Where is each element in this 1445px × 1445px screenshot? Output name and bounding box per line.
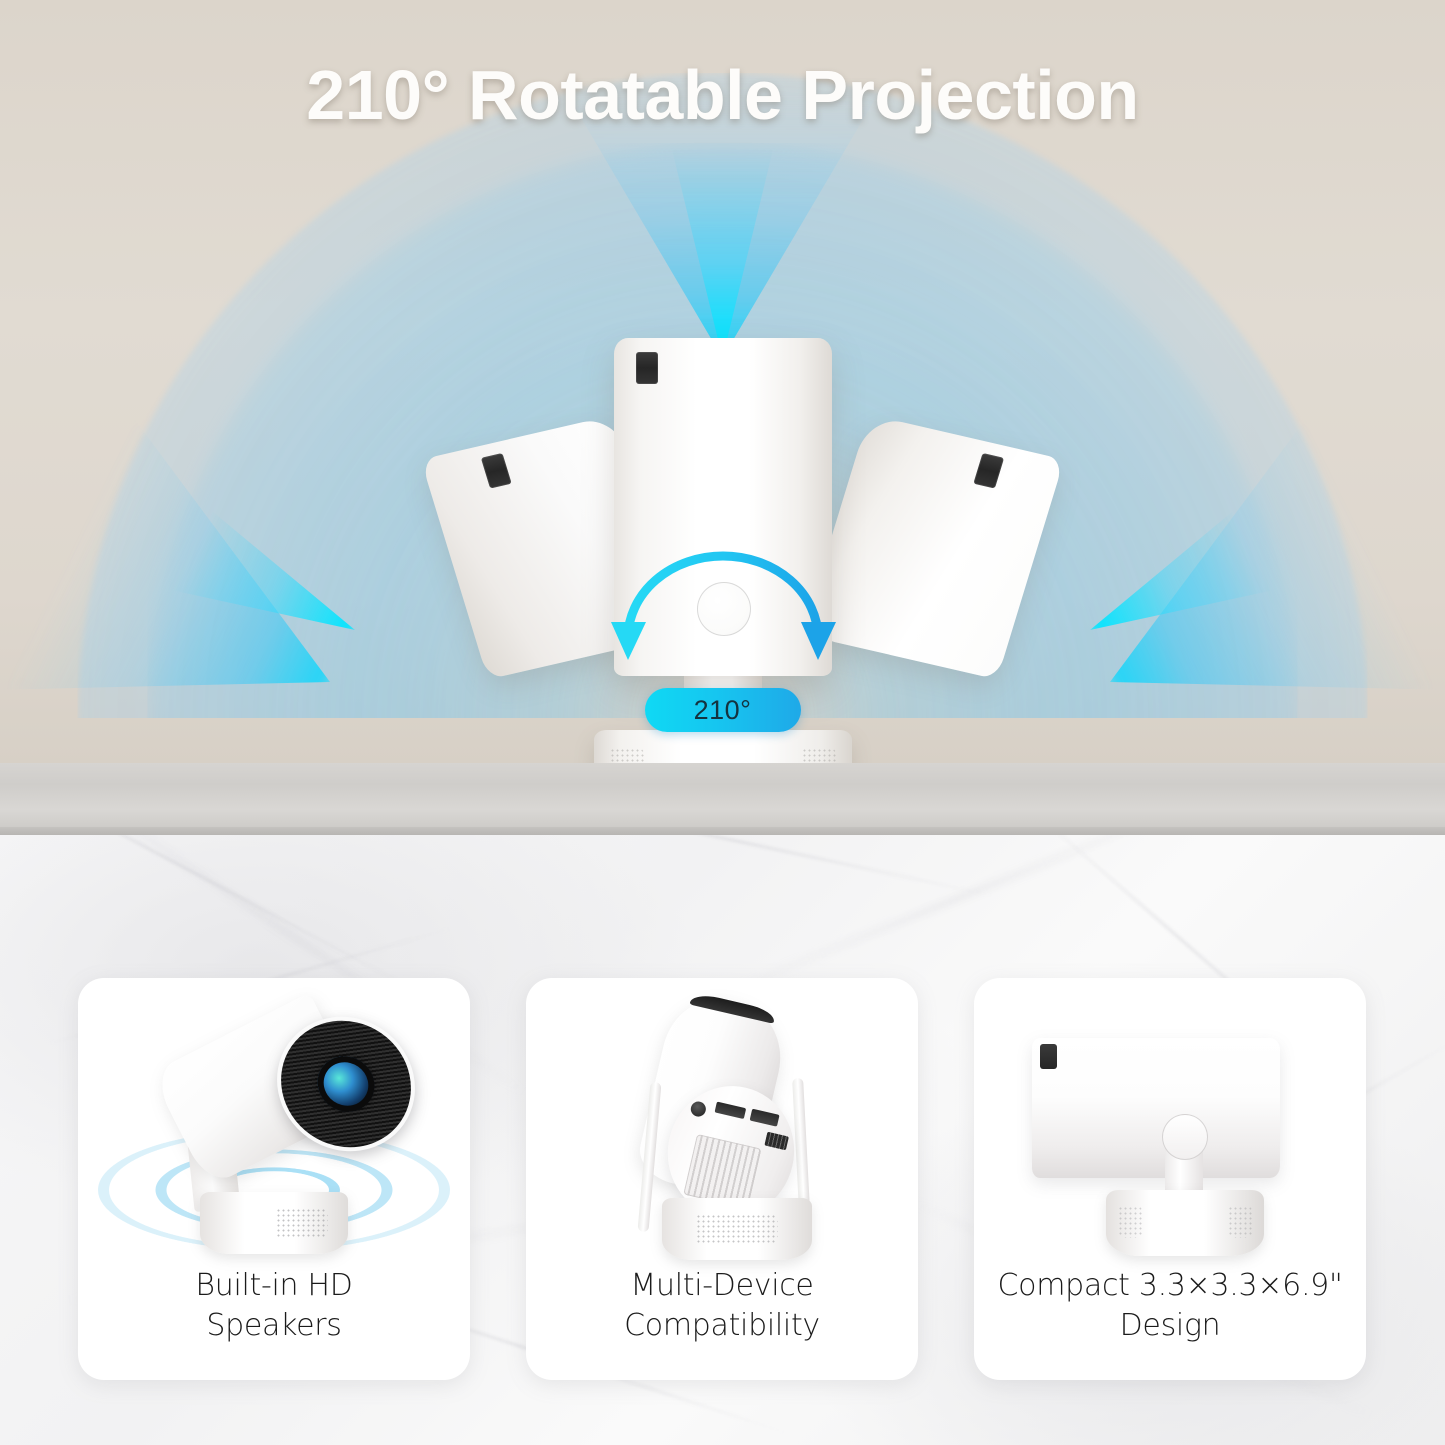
- projector-vent-icon: [636, 352, 658, 384]
- hero-scene: 210° 210° Rotatable Projection: [0, 0, 1445, 835]
- projector-base: [662, 1198, 812, 1260]
- countertop-surface: [0, 763, 1445, 835]
- feature-label-line2: Compatibility: [544, 1306, 900, 1346]
- projector-vent-icon: [1040, 1044, 1057, 1069]
- feature-label-line2: Design: [992, 1306, 1348, 1346]
- feature-card-label: Built-in HD Speakers: [96, 1266, 452, 1346]
- feature-label-line1: Compact 3.3×3.3×6.9": [998, 1268, 1343, 1303]
- feature-card-built-in-hd-speakers[interactable]: Built-in HD Speakers: [78, 978, 470, 1380]
- feature-card-multi-device-compatibility[interactable]: Multi-Device Compatibility: [526, 978, 918, 1380]
- speaker-grille-icon: [1228, 1206, 1252, 1238]
- feature-label-line2: Speakers: [96, 1306, 452, 1346]
- power-port-icon: [689, 1100, 707, 1118]
- page-title: 210° Rotatable Projection: [0, 55, 1445, 135]
- projector-base: [1106, 1190, 1264, 1256]
- feature-card-label: Multi-Device Compatibility: [544, 1266, 900, 1346]
- projector-side-profile-icon: [974, 994, 1366, 1264]
- projector-vent-icon: [481, 453, 512, 489]
- speaker-grille-icon: [1118, 1206, 1142, 1238]
- projector-rear-ports-view-icon: [526, 994, 918, 1264]
- status-badge: 210°: [645, 688, 801, 732]
- projector-top-cap: [690, 992, 777, 1024]
- feature-card-art: [974, 994, 1366, 1264]
- feature-card-art: [78, 994, 470, 1264]
- badge-label: 210°: [694, 695, 752, 726]
- product-feature-image: 210° 210° Rotatable Projection: [0, 0, 1445, 1445]
- projector-front-with-sound-waves-icon: [78, 994, 470, 1264]
- projector-body: [1032, 1038, 1280, 1178]
- usb-port-icon: [764, 1132, 789, 1151]
- speaker-grille-icon: [276, 1208, 328, 1238]
- feature-card-label: Compact 3.3×3.3×6.9" Design: [992, 1266, 1348, 1346]
- feature-label-line1: Multi-Device: [630, 1268, 813, 1303]
- audio-port-icon: [750, 1109, 780, 1127]
- double-headed-rotation-arc-arrow-icon: [598, 520, 848, 660]
- projector-base: [200, 1192, 348, 1254]
- feature-card-compact-design[interactable]: Compact 3.3×3.3×6.9" Design: [974, 978, 1366, 1380]
- rotation-hinge-icon: [1162, 1114, 1208, 1160]
- lens-icon: [312, 1053, 379, 1116]
- feature-card-art: [526, 994, 918, 1264]
- feature-label-line1: Built-in HD: [195, 1268, 352, 1303]
- projector-vent-icon: [973, 453, 1004, 489]
- hdmi-port-icon: [715, 1102, 747, 1119]
- speaker-grille-icon: [696, 1214, 778, 1244]
